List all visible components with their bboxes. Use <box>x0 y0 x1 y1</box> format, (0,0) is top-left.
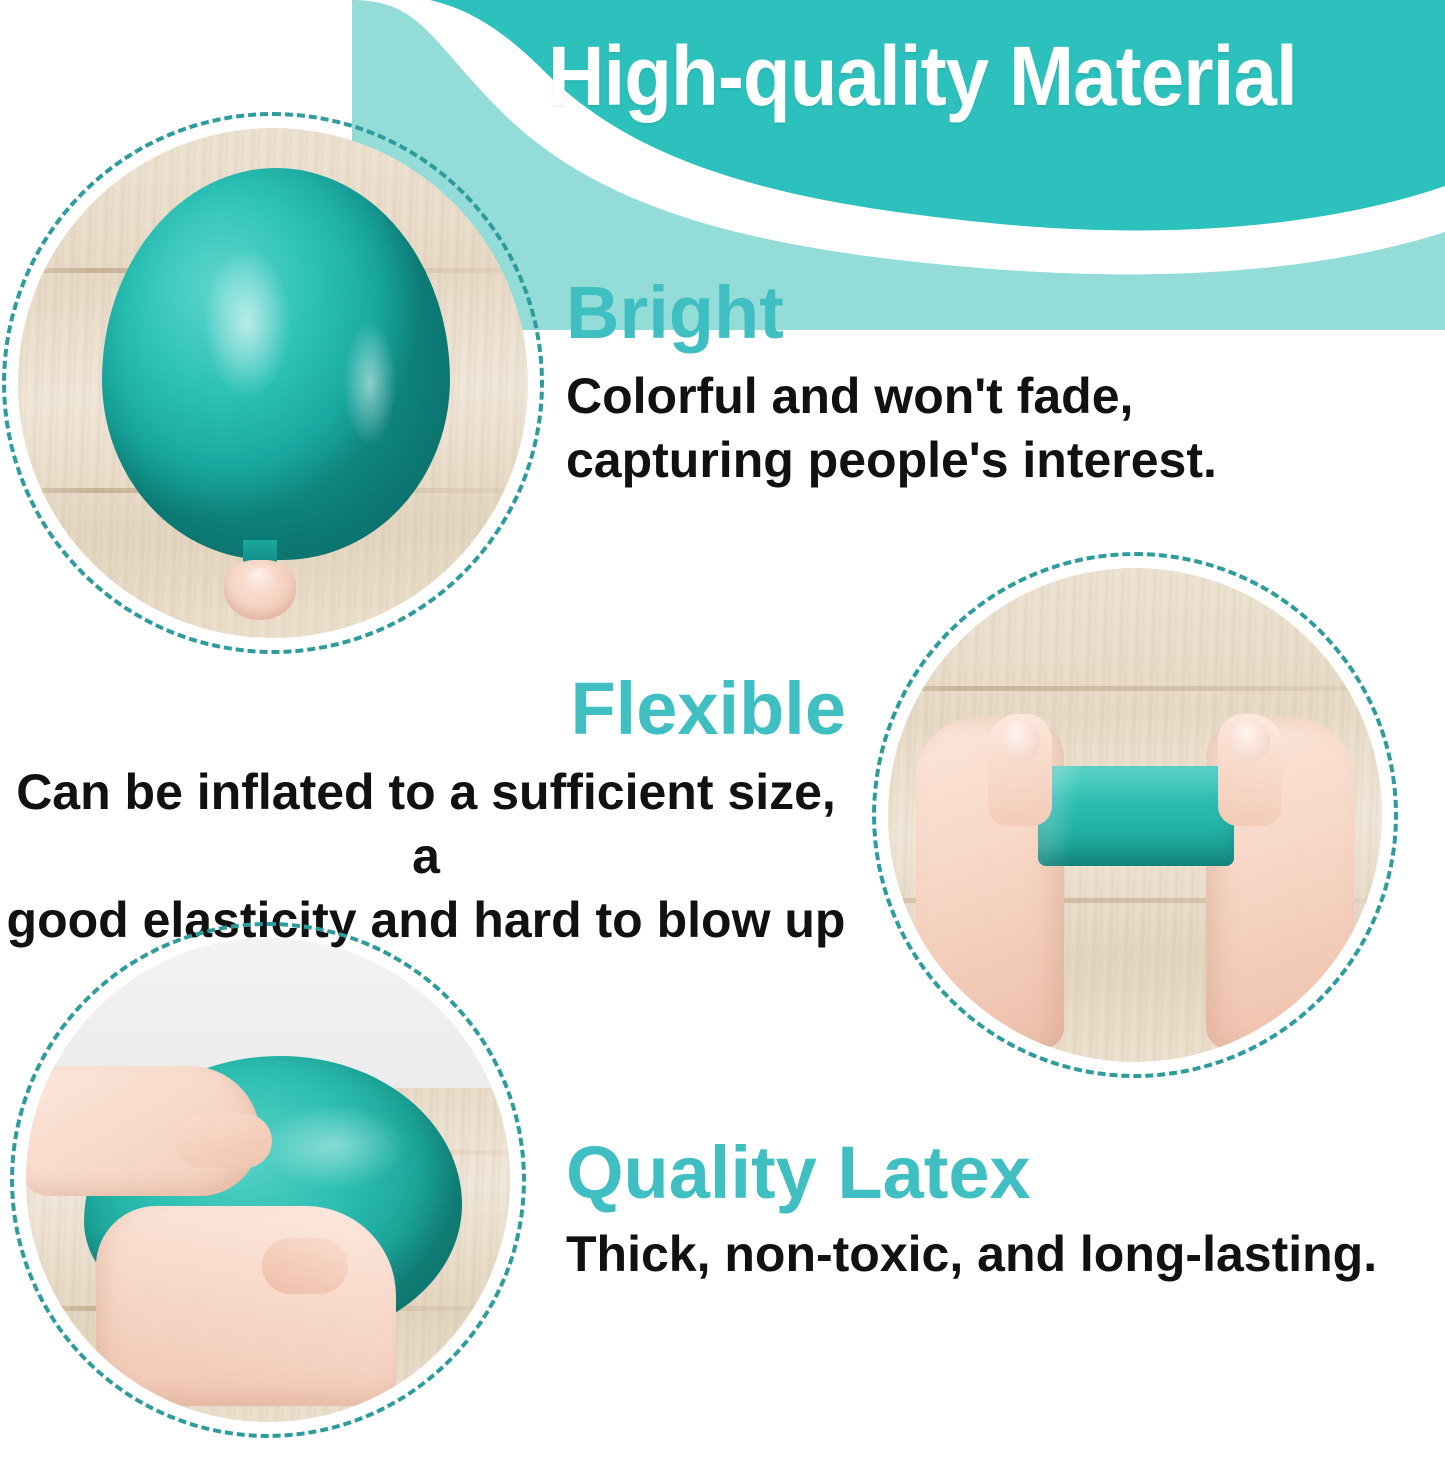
fingernail-shape <box>246 568 276 594</box>
feature-body-bright: Colorful and won't fade, capturing peopl… <box>566 364 1426 492</box>
feature-heading-quality-latex: Quality Latex <box>566 1136 1426 1210</box>
photo-quality-squeeze <box>26 938 510 1422</box>
feature-heading-bright: Bright <box>566 276 1426 350</box>
feature-body-flexible: Can be inflated to a sufficient size, a … <box>0 760 852 952</box>
feature-heading-flexible: Flexible <box>0 672 852 746</box>
stretched-latex-strip <box>1038 766 1234 866</box>
feature-body-line: Colorful and won't fade, <box>566 364 1426 428</box>
right-thumbnail-shape <box>1230 720 1270 762</box>
feature-body-line: capturing people's interest. <box>566 428 1426 492</box>
feature-block-quality-latex: Quality Latex Thick, non-toxic, and long… <box>566 1136 1426 1286</box>
left-thumbnail-shape <box>1000 720 1040 762</box>
feature-block-bright: Bright Colorful and won't fade, capturin… <box>566 276 1426 492</box>
photo-bright-balloon <box>18 128 528 638</box>
lower-thumb-shape <box>262 1238 348 1294</box>
feature-body-line: Can be inflated to a sufficient size, a <box>0 760 852 888</box>
lower-hand-shape <box>96 1206 396 1406</box>
feature-block-flexible: Flexible Can be inflated to a sufficient… <box>0 672 852 952</box>
page-title: High-quality Material <box>548 34 1385 118</box>
feature-body-quality-latex: Thick, non-toxic, and long-lasting. <box>566 1222 1426 1286</box>
photo-flexible-stretch <box>888 568 1382 1062</box>
upper-fingers-shape <box>176 1114 272 1168</box>
feature-body-line: Thick, non-toxic, and long-lasting. <box>566 1222 1426 1286</box>
